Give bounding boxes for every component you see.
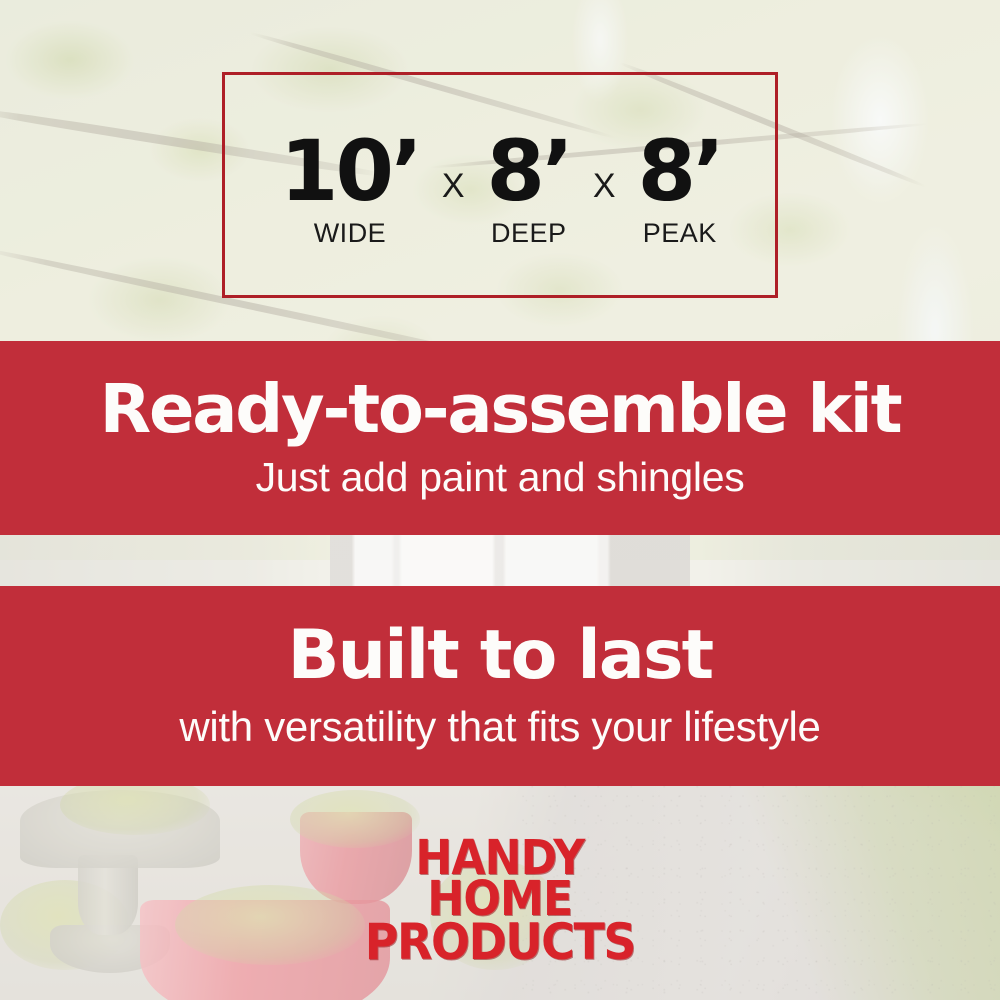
feature-banner-ready-to-assemble: Ready-to-assemble kit Just add paint and… — [0, 341, 1000, 535]
banner-1-title: Ready-to-assemble kit — [100, 376, 901, 443]
dimension-deep-value: 8’ — [487, 133, 571, 210]
brand-logo: HANDY HOME PRODUCTS — [0, 838, 1000, 964]
dimension-wide-value: 10’ — [280, 133, 420, 210]
brand-logo-line-products: PRODUCTS — [365, 921, 635, 964]
dimension-deep: 8’ DEEP — [487, 133, 571, 249]
dimension-deep-label: DEEP — [491, 218, 567, 249]
dimension-peak: 8’ PEAK — [638, 133, 722, 249]
dimension-wide-label: WIDE — [314, 218, 387, 249]
feature-banner-built-to-last: Built to last with versatility that fits… — [0, 586, 1000, 786]
dimension-peak-value: 8’ — [638, 133, 722, 210]
banner-2-subtitle: with versatility that fits your lifestyl… — [179, 704, 820, 750]
dimension-peak-label: PEAK — [643, 218, 717, 249]
dimensions-callout-box: 10’ WIDE X 8’ DEEP X 8’ PEAK — [222, 72, 778, 298]
dimension-wide: 10’ WIDE — [280, 133, 420, 249]
banner-2-title: Built to last — [288, 622, 713, 690]
dimensions-row: 10’ WIDE X 8’ DEEP X 8’ PEAK — [225, 133, 775, 249]
banner-1-subtitle: Just add paint and shingles — [256, 455, 745, 500]
dimension-separator-1: X — [442, 167, 465, 206]
product-feature-poster: 10’ WIDE X 8’ DEEP X 8’ PEAK Ready-to-as… — [0, 0, 1000, 1000]
dimension-separator-2: X — [593, 167, 616, 206]
